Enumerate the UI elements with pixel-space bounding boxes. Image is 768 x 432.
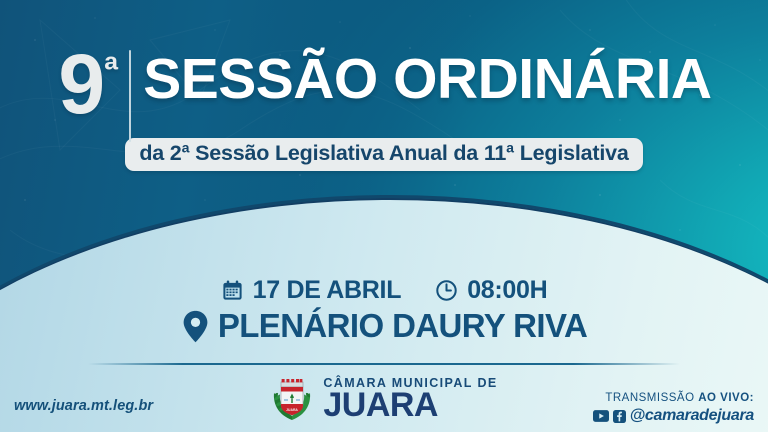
map-pin-icon <box>181 310 210 343</box>
session-number-ordinal: ª <box>104 52 116 90</box>
subtitle-pill: da 2ª Sessão Legislativa Anual da 11ª Le… <box>125 138 642 171</box>
live-label: TRANSMISSÃO AO VIVO: <box>593 392 754 404</box>
calendar-icon <box>221 279 244 302</box>
youtube-icon[interactable] <box>593 410 609 422</box>
header-block: 9 ª SESSÃO ORDINÁRIA da 2ª Sessão Legisl… <box>0 48 768 171</box>
coat-of-arms-icon: JUARA <box>270 376 314 422</box>
brand-main-label: JUARA <box>323 390 497 421</box>
title-divider-bar <box>129 50 131 142</box>
event-date: 17 DE ABRIL <box>253 276 402 305</box>
session-number-value: 9 <box>58 48 103 120</box>
clock-icon <box>435 279 458 302</box>
event-location: PLENÁRIO DAURY RIVA <box>218 307 587 345</box>
footer-divider <box>88 363 680 365</box>
event-datetime-row: 17 DE ABRIL 08:00H <box>221 276 548 305</box>
live-label-normal: TRANSMISSÃO <box>605 392 698 404</box>
event-info: 17 DE ABRIL 08:00H PLENÁRIO DAURY RIVA <box>0 276 768 345</box>
poster-canvas: 9 ª SESSÃO ORDINÁRIA da 2ª Sessão Legisl… <box>0 0 768 432</box>
social-handle[interactable]: @camaradejuara <box>630 407 754 425</box>
event-time: 08:00H <box>467 276 547 305</box>
session-number: 9 ª <box>58 48 116 120</box>
live-broadcast-block: TRANSMISSÃO AO VIVO: @camaradejuara <box>593 392 754 425</box>
page-title: SESSÃO ORDINÁRIA <box>143 52 711 106</box>
title-row: 9 ª SESSÃO ORDINÁRIA <box>0 48 768 142</box>
facebook-icon[interactable] <box>613 410 626 423</box>
event-location-row: PLENÁRIO DAURY RIVA <box>181 307 587 345</box>
live-label-bold: AO VIVO: <box>698 392 754 404</box>
social-handle-row: @camaradejuara <box>593 407 754 425</box>
svg-text:JUARA: JUARA <box>287 408 299 412</box>
brand-text: CÂMARA MUNICIPAL DE JUARA <box>323 377 497 422</box>
